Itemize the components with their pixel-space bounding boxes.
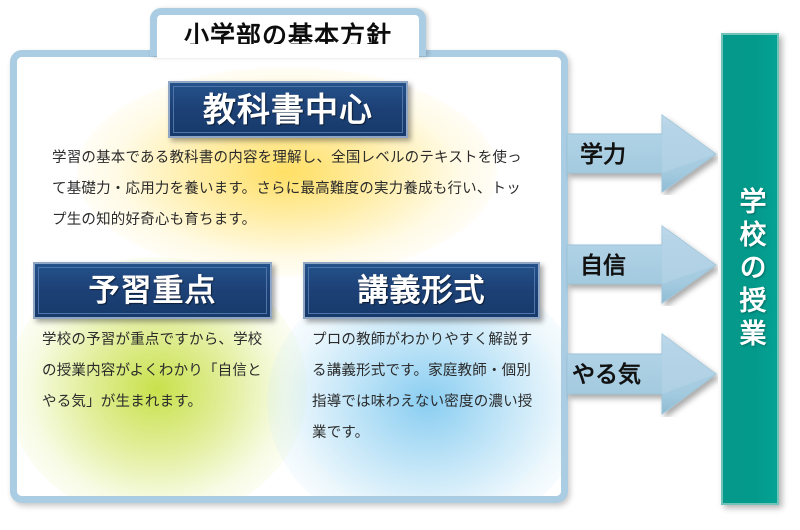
arrow-confidence: 自信 [566, 224, 718, 306]
heading-label-main: 教科書中心 [203, 93, 373, 126]
arrow-academic-ability: 学力 [566, 113, 718, 195]
diagram-canvas: 小学部の基本方針 教科書中心 学習の基本である教科書の内容を理解し、全国レベルの… [0, 0, 800, 530]
body-paragraph-main: 学習の基本である教科書の内容を理解し、全国レベルのテキストを使って基礎力・応用力… [52, 143, 524, 236]
outcome-panel-school-lesson: 学校の授業 [721, 33, 779, 505]
arrow-motivation: やる気 [566, 331, 718, 417]
outcome-panel-label: 学校の授業 [734, 187, 765, 352]
title-tab-mask [157, 44, 419, 58]
arrow-label-3: やる気 [572, 363, 641, 386]
heading-label-left: 予習重点 [89, 275, 217, 306]
heading-plaque-textbook-centered: 教科書中心 [168, 81, 408, 138]
arrow-label-1: 学力 [580, 143, 626, 166]
heading-plaque-preparation-focus: 予習重点 [33, 262, 272, 319]
body-paragraph-left: 学校の予習が重点ですから、学校の授業内容がよくわかり「自信とやる気」が生まれます… [42, 325, 270, 418]
arrow-label-2: 自信 [580, 254, 626, 277]
heading-label-right: 講義形式 [358, 275, 486, 306]
body-paragraph-right: プロの教師がわかりやすく解説する講義形式です。家庭教師・個別指導では味わえない密… [312, 325, 540, 449]
heading-plaque-lecture-style: 講義形式 [303, 262, 540, 319]
